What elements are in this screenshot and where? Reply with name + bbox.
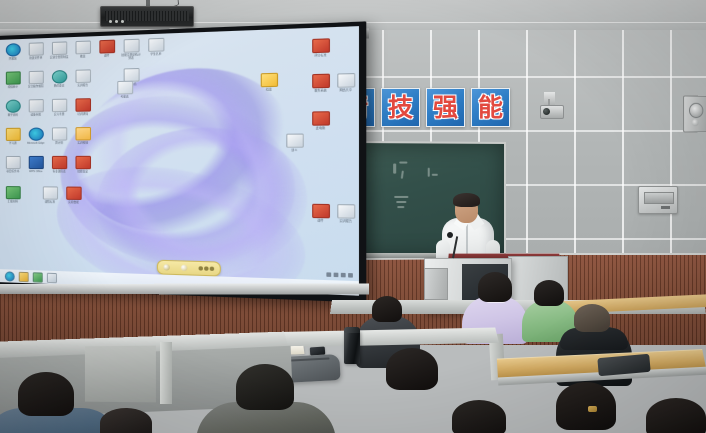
powerpoint-icon	[312, 74, 330, 89]
powerpoint-icon	[75, 98, 91, 112]
desktop-icon[interactable]: 实训报告	[72, 69, 93, 87]
desktop-icon[interactable]: 回收站	[3, 43, 23, 61]
lecture-hall-photo: 精 技 强 能 ▪▪▪▪	[0, 0, 706, 433]
file-icon	[337, 204, 355, 219]
taskbar-folder-icon[interactable]	[19, 271, 29, 281]
banner-char-2: 技	[381, 88, 420, 127]
desktop-icon[interactable]: 档案	[257, 73, 280, 92]
attendee-head	[556, 382, 616, 430]
toolbar-pen-icon[interactable]	[163, 264, 170, 271]
powerpoint-icon	[51, 156, 66, 169]
folder-icon	[75, 127, 91, 140]
projector-icon	[100, 6, 194, 27]
meeting-icon	[51, 70, 66, 84]
taskbar-explorer-icon[interactable]	[47, 272, 57, 283]
toolbar-eraser-icon[interactable]	[181, 265, 188, 272]
desktop-icon[interactable]: 学习通	[3, 128, 23, 145]
banner-char-2-text: 技	[388, 95, 413, 120]
tray-icon[interactable]	[334, 273, 339, 278]
thermos-cap	[344, 327, 360, 333]
desktop-icon[interactable]: 评分标准	[309, 38, 333, 58]
desktop-icon[interactable]: 实习手册	[49, 99, 69, 117]
file-icon	[28, 71, 43, 85]
camera-lens-icon	[543, 108, 550, 115]
desktop-icon[interactable]: Microsoft Edge	[26, 127, 46, 145]
file-icon	[117, 81, 133, 95]
file-icon	[28, 42, 43, 56]
file-icon	[148, 38, 164, 52]
file-icon	[286, 133, 304, 147]
powerpoint-icon	[99, 40, 115, 54]
attendee-head	[534, 280, 564, 306]
powerpoint-icon	[312, 204, 330, 219]
system-tray[interactable]	[326, 272, 352, 277]
microphone-icon	[447, 232, 453, 238]
tray-icon[interactable]	[341, 273, 346, 278]
file-icon	[51, 127, 66, 140]
desktop-icon[interactable]: 课件	[96, 40, 117, 59]
desktop-icon[interactable]: 实训报告	[334, 204, 358, 223]
screen-weight-bar	[0, 283, 369, 294]
excel-icon	[5, 186, 20, 199]
projection-screen[interactable]: 回收站 新建文件夹 实训室管理制度 教案 课件 技能竞赛训练计划表 学生名单 成…	[0, 21, 366, 302]
attendee-head	[646, 398, 706, 433]
file-icon	[123, 39, 139, 53]
file-icon	[75, 41, 91, 55]
seat-back	[85, 346, 156, 403]
desktop-icon[interactable]: 新建文件夹	[26, 42, 46, 60]
powerpoint-icon	[75, 156, 91, 169]
desktop-icon[interactable]: 汇报材料	[3, 186, 23, 203]
wall-speaker-icon	[683, 95, 706, 132]
desktop-icon[interactable]: 培训通知	[72, 98, 93, 116]
powerpoint-icon	[312, 111, 330, 126]
excel-icon	[5, 71, 20, 84]
hair-clip-icon	[588, 406, 597, 412]
desktop-icon[interactable]: 安全操作规程	[26, 71, 46, 89]
attendee-head	[18, 372, 74, 416]
desktop-icon[interactable]: 课件	[309, 204, 333, 223]
glasses-icon	[456, 205, 477, 210]
desktop-icon[interactable]: 实训视频	[72, 127, 93, 145]
powerpoint-icon	[66, 187, 81, 200]
desktop-icon[interactable]: 设备台账	[26, 99, 46, 117]
desktop-icon[interactable]: WPS Office	[26, 156, 46, 173]
attendee-head	[386, 348, 438, 390]
banner-char-4-text: 能	[478, 95, 503, 120]
file-icon	[75, 69, 91, 83]
wall-control-panel[interactable]	[638, 186, 678, 214]
windows-desktop[interactable]: 回收站 新建文件夹 实训室管理制度 教案 课件 技能竞赛训练计划表 学生名单 成…	[0, 26, 359, 296]
desktop-icon[interactable]: 腾讯会议	[49, 70, 69, 88]
desktop-icon[interactable]: 技能鉴定	[72, 156, 93, 174]
attendee-head	[574, 304, 610, 332]
attendee-head	[372, 296, 402, 322]
folder-icon	[260, 73, 277, 88]
desktop-icon[interactable]: 学生名单	[145, 38, 167, 57]
podium-side-panel	[424, 268, 448, 300]
attendee-head	[236, 364, 294, 410]
file-icon	[28, 99, 43, 112]
file-icon	[51, 99, 66, 113]
tray-icon[interactable]	[326, 272, 331, 277]
file-icon	[42, 186, 57, 199]
desktop-icon[interactable]: 项目任务书	[3, 156, 23, 173]
edge-icon	[28, 127, 43, 140]
taskbar-edge-icon[interactable]	[5, 271, 15, 281]
desktop-icon[interactable]: 讲义	[283, 133, 306, 152]
seat-divider	[160, 342, 172, 404]
powerpoint-icon	[312, 38, 330, 53]
desktop-icon[interactable]: 教学资料	[3, 99, 23, 117]
desktop-icon[interactable]: 周计划	[49, 127, 69, 145]
banner-char-3-text: 强	[433, 95, 458, 120]
desktop-icon[interactable]: 专业课程表	[49, 156, 69, 174]
desktop-icon[interactable]: 教务系统	[309, 74, 333, 93]
desktop-icon[interactable]: 课程标准	[40, 186, 60, 204]
desktop-icon[interactable]: 技能竞赛训练计划表	[120, 39, 141, 61]
file-icon	[51, 41, 66, 55]
desktop-icon[interactable]: 实训室管理制度	[49, 41, 69, 59]
toolbar-more-icon[interactable]	[199, 266, 215, 271]
learning-app-icon	[5, 128, 20, 141]
banner-char-4: 能	[471, 88, 510, 127]
edge-icon	[5, 43, 20, 57]
desktop-icon[interactable]: 成绩统计	[3, 71, 23, 89]
thermos-icon	[344, 330, 360, 364]
taskbar-wps-icon[interactable]	[33, 272, 43, 282]
file-icon	[337, 73, 355, 88]
desktop-icon[interactable]: 实验数据	[63, 187, 84, 205]
desktop-icon[interactable]: 网络共享	[334, 73, 358, 93]
banner-char-3: 强	[426, 88, 465, 127]
wps-icon	[28, 156, 43, 169]
attendee-head	[100, 408, 152, 433]
desktop-icon[interactable]: 此电脑	[309, 111, 333, 130]
desktop-icon[interactable]: 考勤表	[114, 81, 135, 99]
attendee-head	[478, 272, 512, 302]
tray-icon[interactable]	[348, 273, 353, 278]
app-icon	[5, 100, 20, 113]
file-icon	[5, 156, 20, 169]
attendee-head	[452, 400, 506, 433]
desktop-icon[interactable]: 教案	[72, 40, 93, 58]
